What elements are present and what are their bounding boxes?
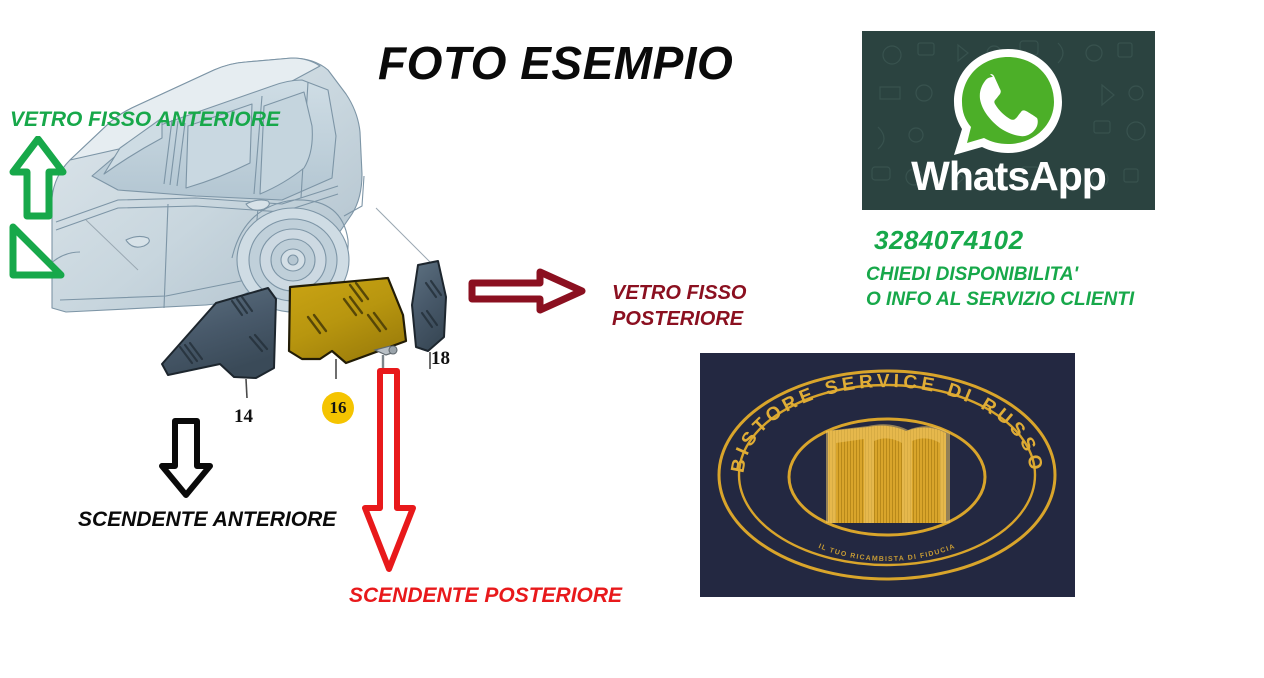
page-title: FOTO ESEMPIO (378, 36, 733, 90)
label-vetro-fisso-posteriore: VETRO FISSO POSTERIORE (612, 281, 746, 332)
label-vfp-line2: POSTERIORE (612, 307, 746, 333)
label-scendente-posteriore: SCENDENTE POSTERIORE (349, 584, 622, 608)
whatsapp-wordmark: WhatsApp (862, 153, 1155, 200)
company-logo-patch: MRICAMBISTORE SERVICE DI RUSSO MARCO IL … (700, 353, 1075, 597)
contact-instructions: CHIEDI DISPONIBILITA' O INFO AL SERVIZIO… (866, 262, 1134, 312)
screenshot-canvas: 14 17 18 16 FOTO ESEMPIO VETRO FISSO ANT… (0, 0, 1264, 678)
contact-line-1: CHIEDI DISPONIBILITA' (866, 262, 1134, 287)
contact-line-2: O INFO AL SERVIZIO CLIENTI (866, 287, 1134, 312)
label-scendente-anteriore: SCENDENTE ANTERIORE (78, 508, 336, 532)
green-up-arrow-icon (8, 136, 68, 220)
label-vetro-fisso-anteriore: VETRO FISSO ANTERIORE (10, 108, 280, 132)
part-14-shape (162, 288, 276, 398)
part-16-shape (289, 278, 406, 379)
black-down-arrow-icon (157, 418, 215, 498)
phone-number[interactable]: 3284074102 (874, 225, 1024, 256)
whatsapp-icon (946, 43, 1072, 161)
maroon-right-arrow-icon (468, 268, 586, 314)
part-number-18: 18 (431, 348, 450, 370)
label-vfp-line1: VETRO FISSO (612, 281, 746, 307)
exploded-glass-parts (150, 255, 480, 435)
part-number-badge-16: 16 (322, 392, 354, 424)
whatsapp-banner: WhatsApp (862, 31, 1155, 210)
red-down-arrow-icon (360, 368, 418, 574)
green-triangle-icon (8, 222, 66, 280)
logo-monogram (826, 424, 950, 523)
part-number-14: 14 (234, 406, 253, 428)
